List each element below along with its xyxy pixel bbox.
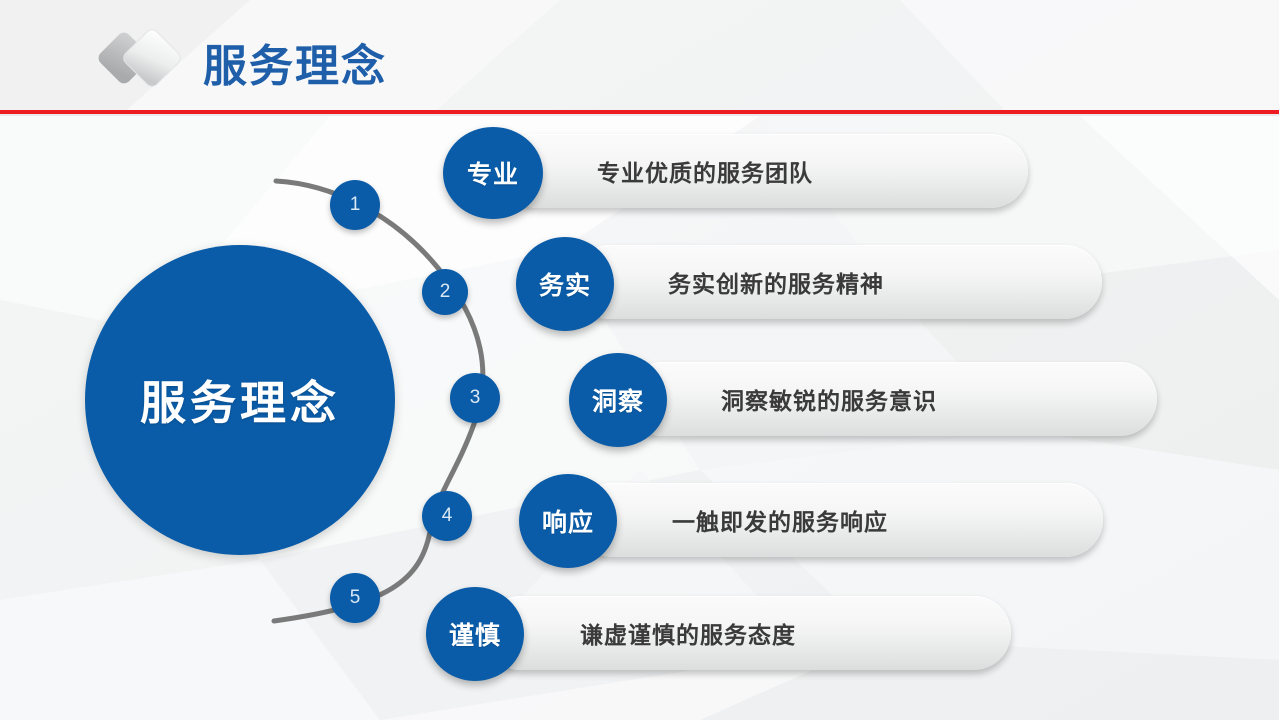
service-badge-3-label: 洞察 <box>592 382 644 418</box>
diamond-logo-icon <box>74 28 214 108</box>
step-node-4-label: 4 <box>442 505 453 527</box>
service-pill-2-text: 务实创新的服务精神 <box>668 265 884 299</box>
service-badge-2-label: 务实 <box>539 266 591 302</box>
service-pill-3[interactable]: 洞察敏锐的服务意识 <box>625 362 1157 436</box>
service-pill-4-text: 一触即发的服务响应 <box>672 503 888 537</box>
service-badge-4[interactable]: 响应 <box>519 474 617 568</box>
slide-header: 服务理念 <box>0 0 1279 116</box>
service-badge-4-label: 响应 <box>542 503 594 539</box>
service-badge-5[interactable]: 谨慎 <box>426 587 524 681</box>
header-under-rule <box>0 114 1279 116</box>
step-node-5[interactable]: 5 <box>330 573 380 623</box>
service-badge-3[interactable]: 洞察 <box>569 353 667 447</box>
step-node-2[interactable]: 2 <box>422 269 468 315</box>
step-node-4[interactable]: 4 <box>422 491 472 541</box>
step-node-3[interactable]: 3 <box>450 373 500 423</box>
service-pill-5-text: 谦虚谨慎的服务态度 <box>580 616 796 650</box>
service-pill-2[interactable]: 务实创新的服务精神 <box>572 245 1102 319</box>
service-badge-2[interactable]: 务实 <box>516 237 614 331</box>
service-badge-5-label: 谨慎 <box>449 616 501 652</box>
step-node-1-label: 1 <box>350 194 361 216</box>
service-pill-1[interactable]: 专业优质的服务团队 <box>500 134 1028 208</box>
hub-circle[interactable]: 服务理念 <box>85 245 395 555</box>
service-pill-1-text: 专业优质的服务团队 <box>597 154 813 188</box>
service-badge-1-label: 专业 <box>467 155 519 191</box>
step-node-2-label: 2 <box>440 281 451 303</box>
service-badge-1[interactable]: 专业 <box>443 127 543 219</box>
service-pill-4[interactable]: 一触即发的服务响应 <box>575 483 1103 557</box>
page-title: 服务理念 <box>203 36 387 98</box>
step-node-5-label: 5 <box>350 587 361 609</box>
step-node-1[interactable]: 1 <box>330 180 380 230</box>
step-node-3-label: 3 <box>470 387 481 409</box>
slide-canvas: 服务理念 服务理念 1 2 3 4 5 专业优质的服务团队 专业 <box>0 0 1279 720</box>
hub-label: 服务理念 <box>140 367 340 433</box>
service-pill-3-text: 洞察敏锐的服务意识 <box>721 382 937 416</box>
service-pill-5[interactable]: 谦虚谨慎的服务态度 <box>483 596 1011 670</box>
